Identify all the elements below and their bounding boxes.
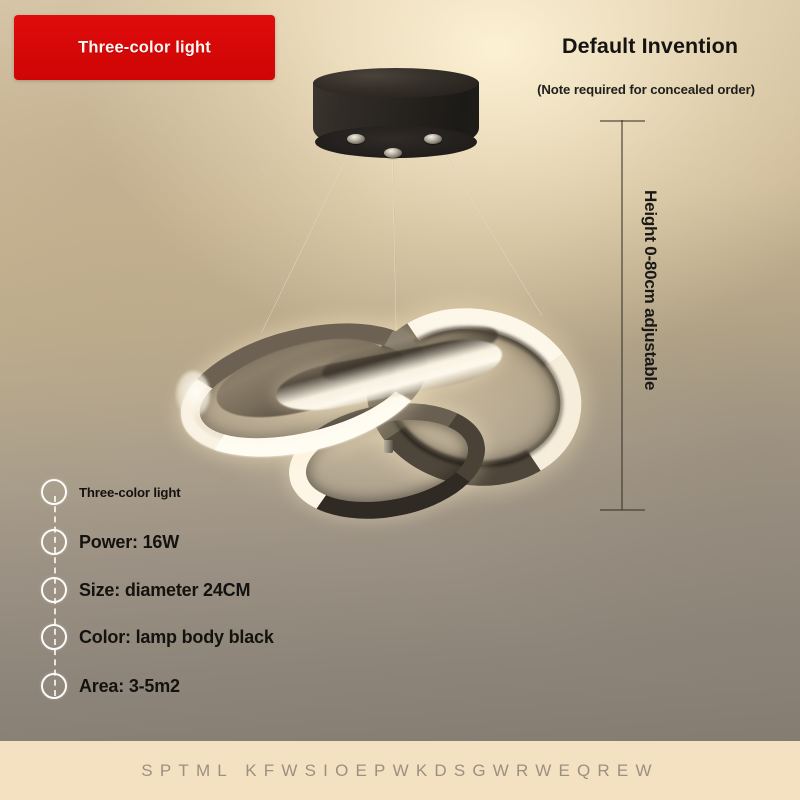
spec-label: Power: 16W (79, 532, 179, 553)
spec-item-three-color-light: Three-color light (41, 479, 181, 505)
cable-mount-left (347, 134, 365, 144)
lamp-cable-stud (384, 440, 393, 453)
badge-label: Three-color light (14, 38, 275, 57)
dimension-cap-bottom (600, 509, 645, 511)
spec-item-power: Power: 16W (41, 529, 179, 555)
dimension-line (621, 120, 623, 510)
lamp-left-tip-highlight (176, 371, 210, 417)
dimension-cap-top (600, 120, 645, 122)
spec-label: Area: 3-5m2 (79, 676, 180, 697)
spec-bullet-icon (41, 624, 67, 650)
spec-label: Color: lamp body black (79, 627, 274, 648)
spec-bullet-icon (41, 673, 67, 699)
spec-bullet-icon (41, 479, 67, 505)
spec-item-size: Size: diameter 24CM (41, 577, 250, 603)
spec-item-area: Area: 3-5m2 (41, 673, 180, 699)
lamp-knot-body (170, 295, 600, 525)
ceiling-canopy (313, 68, 479, 170)
page-title: Default Invention (500, 34, 800, 59)
spec-item-color: Color: lamp body black (41, 624, 274, 650)
canopy-top-face (313, 68, 479, 98)
page-subtitle-note: (Note required for concealed order) (486, 82, 800, 97)
spec-bullet-icon (41, 529, 67, 555)
dimension-label: Height 0-80cm adjustable (640, 190, 660, 450)
spec-label: Three-color light (79, 485, 181, 500)
cable-mount-right (424, 134, 442, 144)
spec-bullet-icon (41, 577, 67, 603)
cable-mount-center (384, 148, 402, 158)
three-color-light-badge: Three-color light (14, 15, 275, 80)
product-image-canvas: Three-color light Default Invention (Not… (0, 0, 800, 800)
spec-label: Size: diameter 24CM (79, 580, 250, 601)
footer-band: SPTML KFWSIOEPWKDSGWRWEQREW (0, 741, 800, 800)
footer-text: SPTML KFWSIOEPWKDSGWRWEQREW (0, 761, 800, 781)
